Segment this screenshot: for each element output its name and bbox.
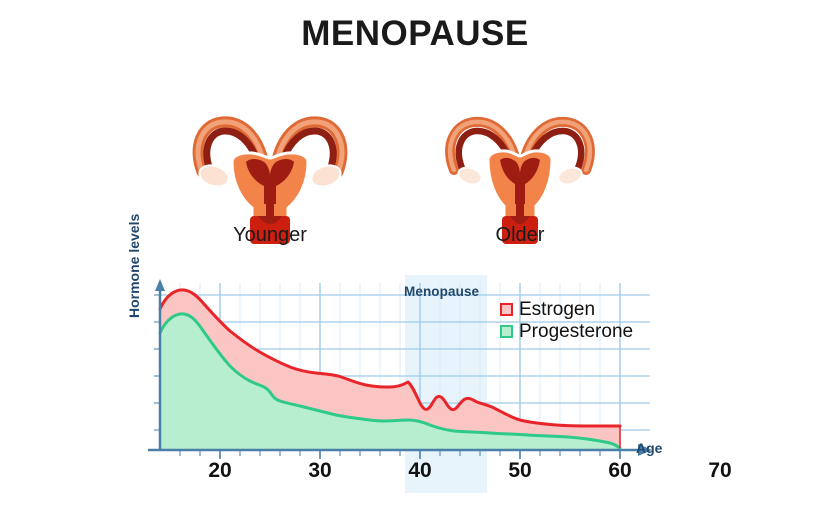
legend-swatch-progesterone	[500, 325, 513, 338]
legend-label-progesterone: Progesterone	[519, 322, 633, 341]
figure-caption-younger: Younger	[170, 224, 370, 247]
y-axis-title-text: Hormone levels	[126, 214, 142, 318]
menopause-infographic: MENOPAUSE Younger	[0, 0, 830, 511]
y-axis-arrow	[155, 279, 165, 291]
legend-label-estrogen: Estrogen	[519, 300, 595, 319]
legend-item-progesterone[interactable]: Progesterone	[500, 320, 633, 342]
x-tick-label-20: 20	[197, 459, 243, 483]
x-tick-label-60: 60	[597, 459, 643, 483]
y-axis-title: Hormone levels	[126, 188, 142, 318]
x-tick-label-50: 50	[497, 459, 543, 483]
x-tick-label-70: 70	[697, 459, 743, 483]
page-title: MENOPAUSE	[0, 14, 830, 54]
x-axis-title: Age	[636, 440, 662, 456]
x-axis-ticks	[180, 450, 620, 459]
figure-caption-older: Older	[420, 224, 620, 247]
menopause-annotation-label: Menopause	[404, 284, 479, 299]
x-tick-label-30: 30	[297, 459, 343, 483]
legend-item-estrogen[interactable]: Estrogen	[500, 298, 633, 320]
x-tick-label-40: 40	[397, 459, 443, 483]
legend-swatch-estrogen	[500, 303, 513, 316]
chart-legend: Estrogen Progesterone	[500, 298, 633, 342]
